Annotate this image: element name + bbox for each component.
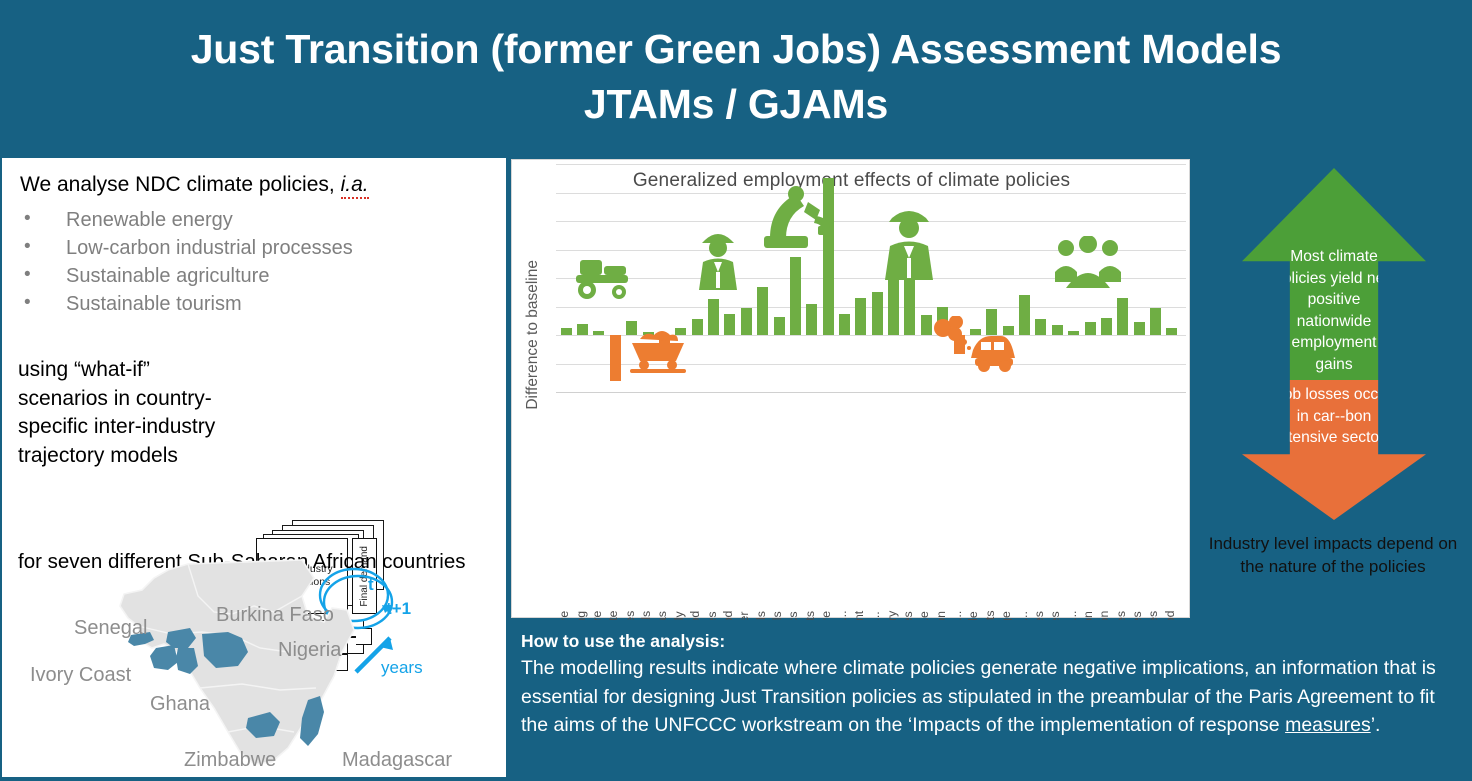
intro-italic: i.a.: [341, 173, 369, 199]
chart-bar: [593, 331, 604, 335]
intro-lead: We analyse NDC climate policies,: [20, 173, 341, 196]
page-title-line2: JTAMs / GJAMs: [584, 77, 888, 131]
chart-bar: [790, 257, 801, 335]
polluting-car-icon: [931, 316, 1015, 374]
chart-bar: [692, 319, 703, 335]
note-heading: How to use the analysis:: [521, 629, 1460, 654]
note-body-after: ’.: [1371, 714, 1381, 736]
chart-bar: [610, 335, 621, 381]
map-label-senegal: Senegal: [74, 617, 147, 640]
intro-line: We analyse NDC climate policies, i.a.: [20, 173, 369, 197]
chart-bar: [724, 314, 735, 335]
chart-bar: [1019, 295, 1030, 335]
robot-arm-icon: [762, 182, 836, 254]
policy-bullet-list: Renewable energy Low-carbon industrial p…: [24, 206, 353, 318]
africa-map: Senegal Burkina Faso Nigeria Ivory Coast…: [2, 556, 506, 777]
chart-bar: [757, 287, 768, 335]
coal-wagon-icon: [628, 329, 688, 375]
up-arrow-label: Most climate policies yield net-positive…: [1272, 246, 1396, 375]
chart-plot-area: [556, 164, 1186, 392]
measures-link[interactable]: measures: [1285, 714, 1371, 736]
chart-bar: [806, 304, 817, 335]
how-to-use-note: How to use the analysis: The modelling r…: [511, 620, 1472, 781]
list-item: Renewable energy: [24, 206, 353, 234]
chart-bar: [1166, 328, 1177, 335]
list-item: Sustainable tourism: [24, 290, 353, 318]
tractor-icon: [574, 252, 640, 300]
chart-bar: [1085, 322, 1096, 335]
left-content-panel: We analyse NDC climate policies, i.a. Re…: [2, 158, 506, 777]
chart-bar: [561, 328, 572, 335]
chart-bar: [1134, 322, 1145, 335]
chart-bar: [577, 324, 588, 335]
chart-y-axis-label: Difference to baseline: [524, 260, 542, 410]
chart-bar: [1117, 298, 1128, 335]
map-label-ghana: Ghana: [150, 693, 210, 716]
right-summary-panel: Most climate policies yield net-positive…: [1192, 158, 1472, 618]
page-title-line1: Just Transition (former Green Jobs) Asse…: [191, 22, 1282, 76]
list-item: Low-carbon industrial processes: [24, 234, 353, 262]
up-arrow-positive: Most climate policies yield net-positive…: [1242, 168, 1426, 380]
down-arrow-negative: Job losses occur in car--bon intensive s…: [1242, 380, 1426, 520]
chart-bar: [708, 299, 719, 335]
map-label-burkina-faso: Burkina Faso: [216, 604, 334, 627]
chart-bar: [872, 292, 883, 335]
chart-bar: [839, 314, 850, 335]
farmer-icon: [695, 226, 741, 294]
whatif-paragraph: using “what-if” scenarios in country-spe…: [18, 356, 243, 470]
map-label-nigeria: Nigeria: [278, 639, 341, 662]
slide-header: Just Transition (former Green Jobs) Asse…: [0, 0, 1472, 153]
map-label-zimbabwe: Zimbabwe: [184, 749, 276, 772]
chart-bar: [1150, 308, 1161, 335]
map-label-ivory-coast: Ivory Coast: [30, 664, 131, 687]
chart-bar: [741, 308, 752, 335]
note-body: The modelling results indicate where cli…: [521, 654, 1460, 740]
chart-axis-baseline: [556, 392, 1186, 393]
worker-icon: [882, 202, 936, 282]
chart-x-axis-labels: AgricultureForestry & LoggingFishing & A…: [558, 396, 1186, 611]
map-label-madagascar: Madagascar: [342, 749, 452, 772]
right-panel-caption: Industry level impacts depend on the nat…: [1202, 532, 1464, 578]
list-item: Sustainable agriculture: [24, 262, 353, 290]
chart-panel: Generalized employment effects of climat…: [511, 159, 1190, 618]
chart-bar: [1101, 318, 1112, 335]
chart-bar: [855, 298, 866, 335]
chart-bar: [1068, 331, 1079, 335]
slide-root: Just Transition (former Green Jobs) Asse…: [0, 0, 1472, 781]
country-ivory-coast: [150, 645, 178, 670]
chart-bar: [1035, 319, 1046, 335]
chart-bar: [774, 317, 785, 336]
chart-bar: [1052, 325, 1063, 335]
down-arrow-label: Job losses occur in car--bon intensive s…: [1270, 384, 1398, 449]
people-group-icon: [1053, 236, 1123, 292]
